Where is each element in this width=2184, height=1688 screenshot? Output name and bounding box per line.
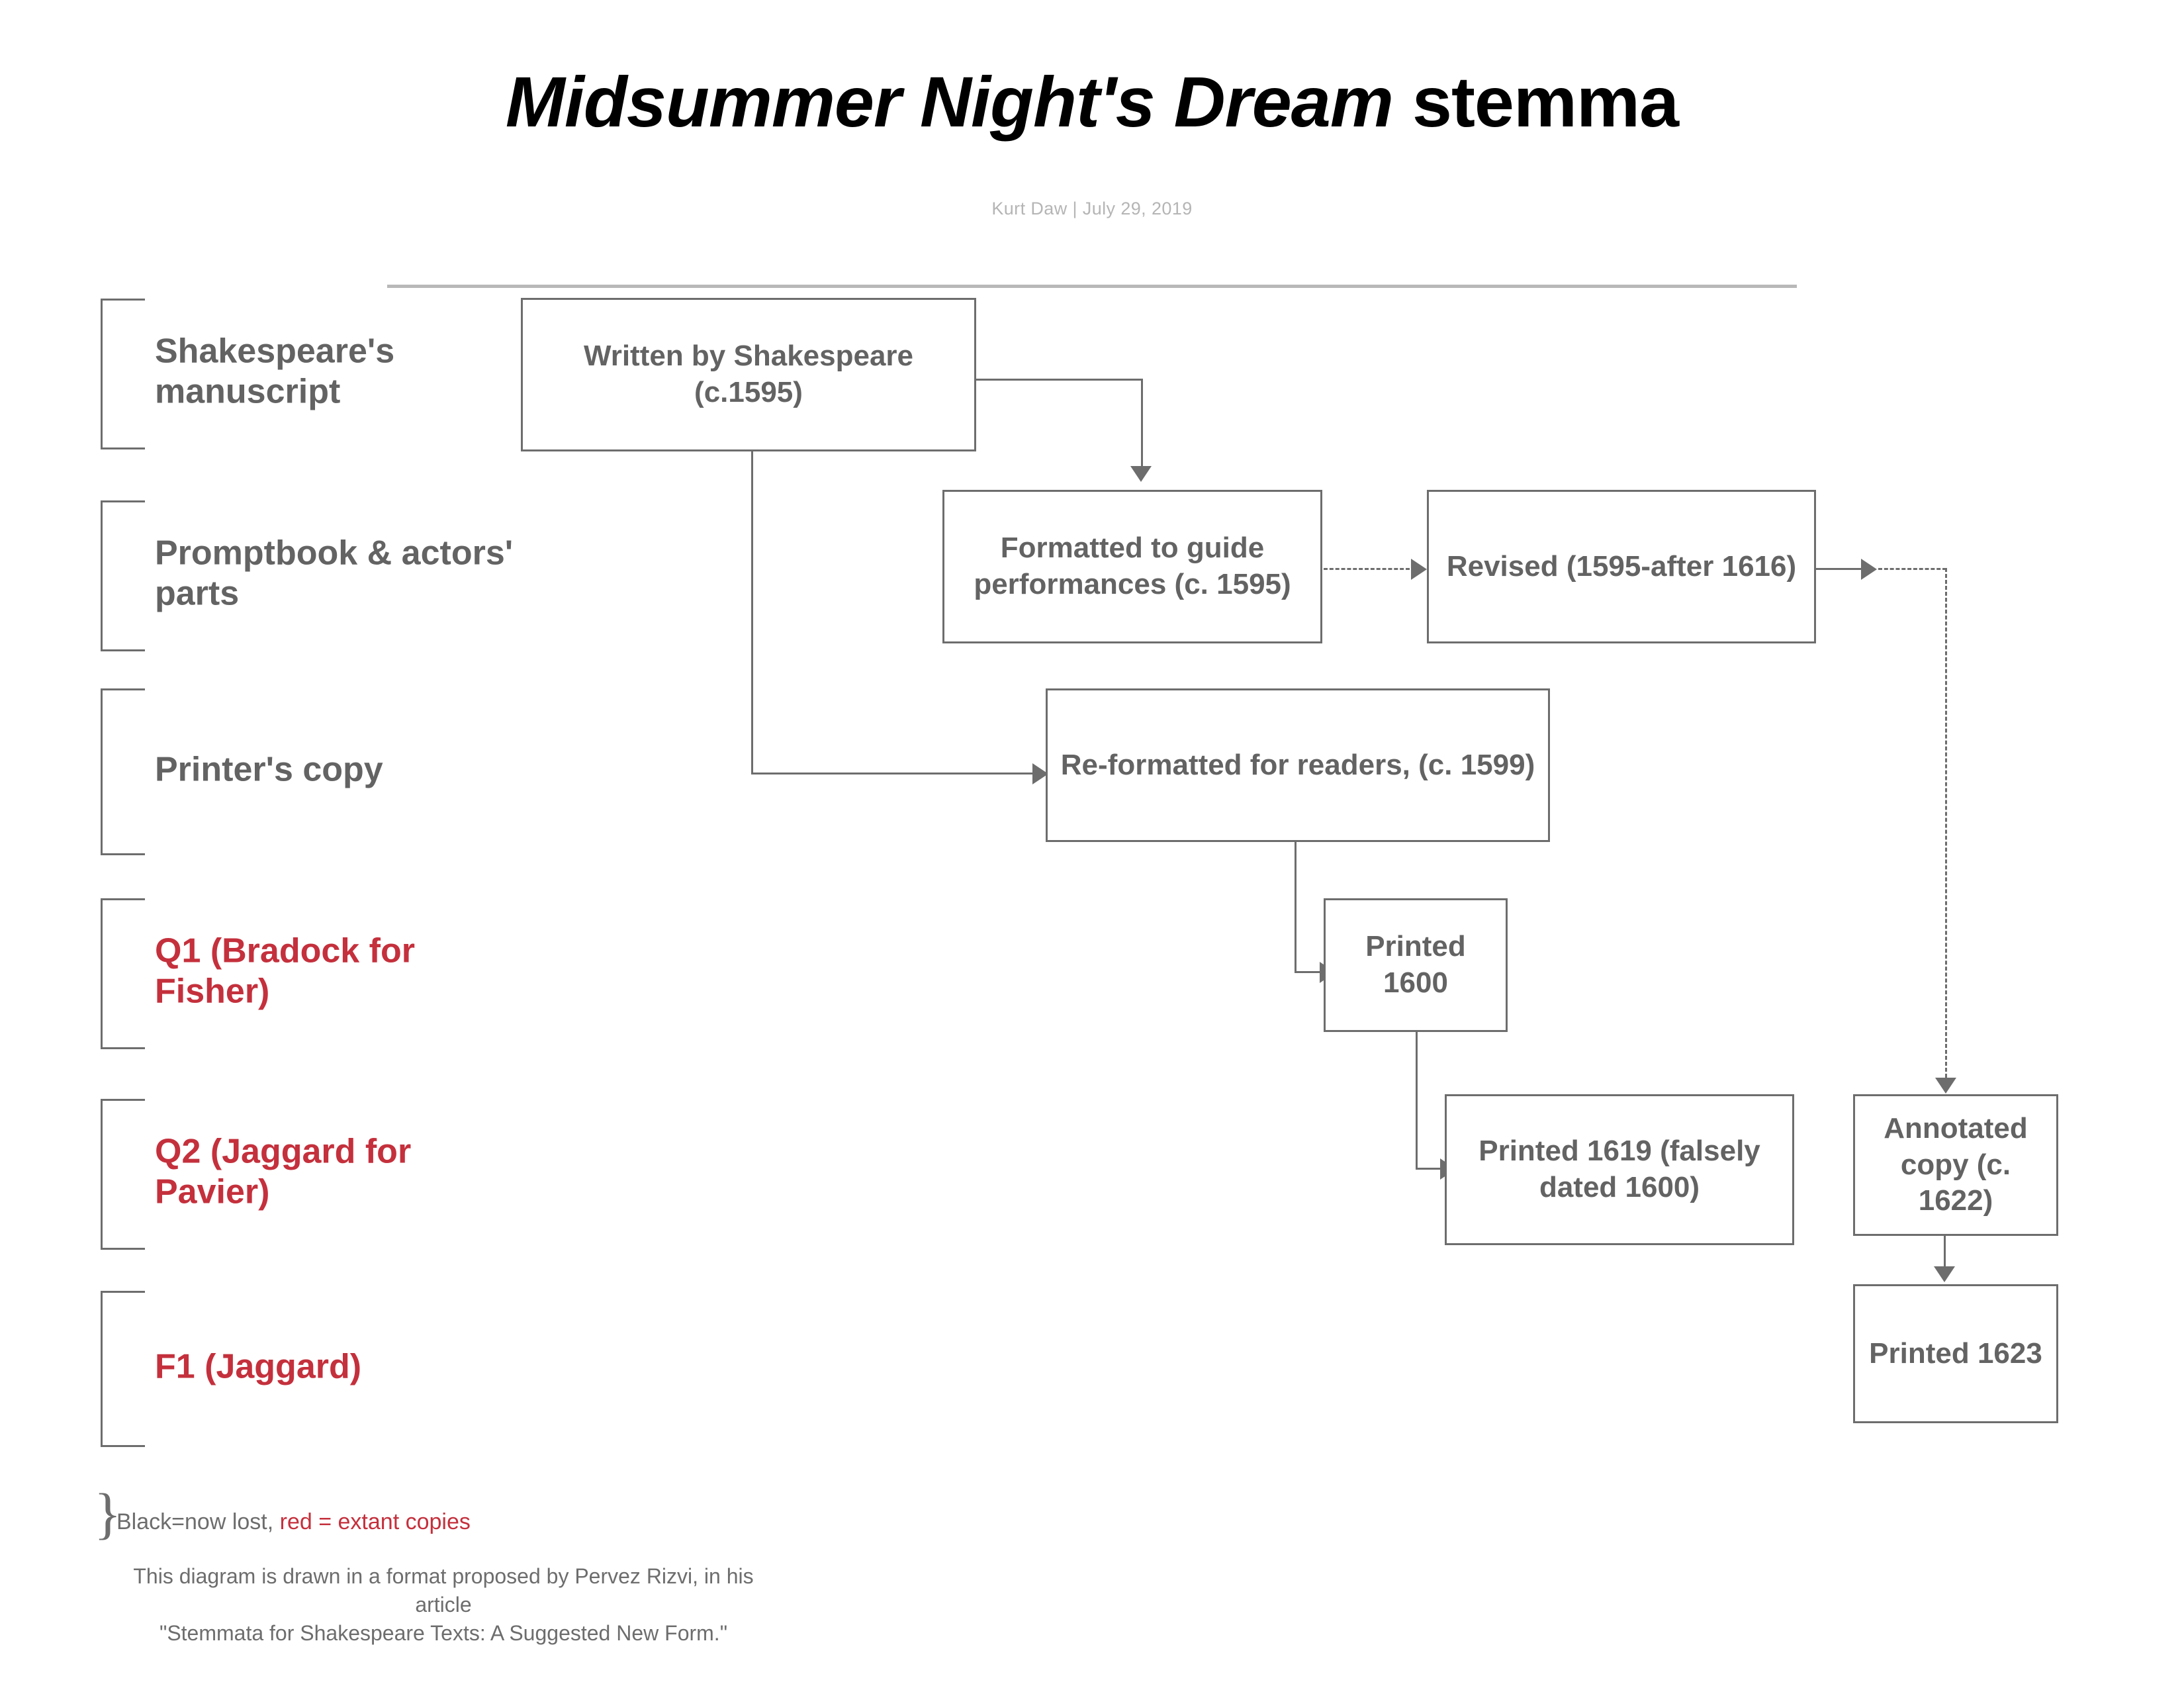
row-label-text: Q2 (Jaggard for Pavier) <box>155 1132 525 1213</box>
node-annotated[interactable]: Annotated copy (c. 1622) <box>1853 1094 2058 1236</box>
node-formatted[interactable]: Formatted to guide performances (c. 1595… <box>942 490 1322 643</box>
row-label-f1: F1 (Jaggard) <box>101 1291 528 1443</box>
legend-lost-text: Black=now lost, <box>116 1509 280 1534</box>
bracket-icon <box>101 1099 145 1250</box>
bracket-icon <box>101 500 145 651</box>
row-label-q2: Q2 (Jaggard for Pavier) <box>101 1099 528 1246</box>
edge-written-reformatted-v <box>751 450 753 774</box>
edge-revised-annotated-h-dashed <box>1878 568 1946 570</box>
page-title: Midsummer Night's Dream stemma <box>0 63 2184 142</box>
bracket-icon <box>101 1291 145 1447</box>
edge-reformatted-printed1600-v <box>1295 842 1297 972</box>
row-label-text: Printer's copy <box>155 749 525 790</box>
node-written[interactable]: Written by Shakespeare (c.1595) <box>521 298 976 451</box>
row-label-promptbook: Promptbook & actors' parts <box>101 500 528 647</box>
page-title-italic: Midsummer Night's Dream <box>506 62 1393 142</box>
diagram-canvas: Midsummer Night's Dream stemma Kurt Daw … <box>0 0 2184 1688</box>
edge-revised-annotated-stub <box>1816 568 1861 570</box>
arrowhead-right-icon <box>1861 559 1877 580</box>
arrowhead-down-icon <box>1935 1078 1956 1094</box>
legend-text: Black=now lost, red = extant copies <box>116 1509 471 1535</box>
row-label-text: Promptbook & actors' parts <box>155 534 525 615</box>
arrowhead-right-icon <box>1411 559 1427 580</box>
arrowhead-down-icon <box>1934 1266 1955 1282</box>
node-reformatted[interactable]: Re-formatted for readers, (c. 1599) <box>1046 688 1550 842</box>
arrowhead-down-icon <box>1130 466 1152 482</box>
edge-formatted-revised-dashed <box>1324 568 1410 570</box>
bracket-icon <box>101 299 145 449</box>
row-label-q1: Q1 (Bradock for Fisher) <box>101 898 528 1045</box>
page-title-rest: stemma <box>1393 62 1678 142</box>
credit-line-1: This diagram is drawn in a format propos… <box>113 1562 774 1619</box>
row-label-text: F1 (Jaggard) <box>155 1346 525 1387</box>
row-label-manuscript: Shakespeare's manuscript <box>101 299 528 445</box>
row-label-printers-copy: Printer's copy <box>101 688 528 851</box>
bracket-icon <box>101 898 145 1049</box>
credit-note: This diagram is drawn in a format propos… <box>113 1562 774 1648</box>
title-divider <box>387 285 1797 288</box>
edge-revised-annotated-v-dashed <box>1945 568 1947 1078</box>
edge-printed1600-printed1619-v <box>1416 1031 1418 1169</box>
node-printed1619[interactable]: Printed 1619 (falsely dated 1600) <box>1445 1094 1794 1245</box>
edge-written-formatted-h <box>976 379 1143 381</box>
bracket-icon <box>101 688 145 855</box>
node-revised[interactable]: Revised (1595-after 1616) <box>1427 490 1816 643</box>
edge-annotated-printed1623-v <box>1944 1235 1946 1266</box>
row-label-text: Q1 (Bradock for Fisher) <box>155 931 525 1013</box>
edge-written-reformatted-h <box>751 773 1032 774</box>
edge-written-formatted-v <box>1141 379 1143 466</box>
page-subtitle: Kurt Daw | July 29, 2019 <box>0 199 2184 219</box>
credit-line-2: "Stemmata for Shakespeare Texts: A Sugge… <box>113 1619 774 1648</box>
legend-extant-text: red = extant copies <box>280 1509 471 1534</box>
row-label-text: Shakespeare's manuscript <box>155 332 525 413</box>
node-printed1623[interactable]: Printed 1623 <box>1853 1284 2058 1423</box>
legend-brace-icon: } <box>94 1493 111 1538</box>
node-printed1600[interactable]: Printed 1600 <box>1324 898 1508 1032</box>
